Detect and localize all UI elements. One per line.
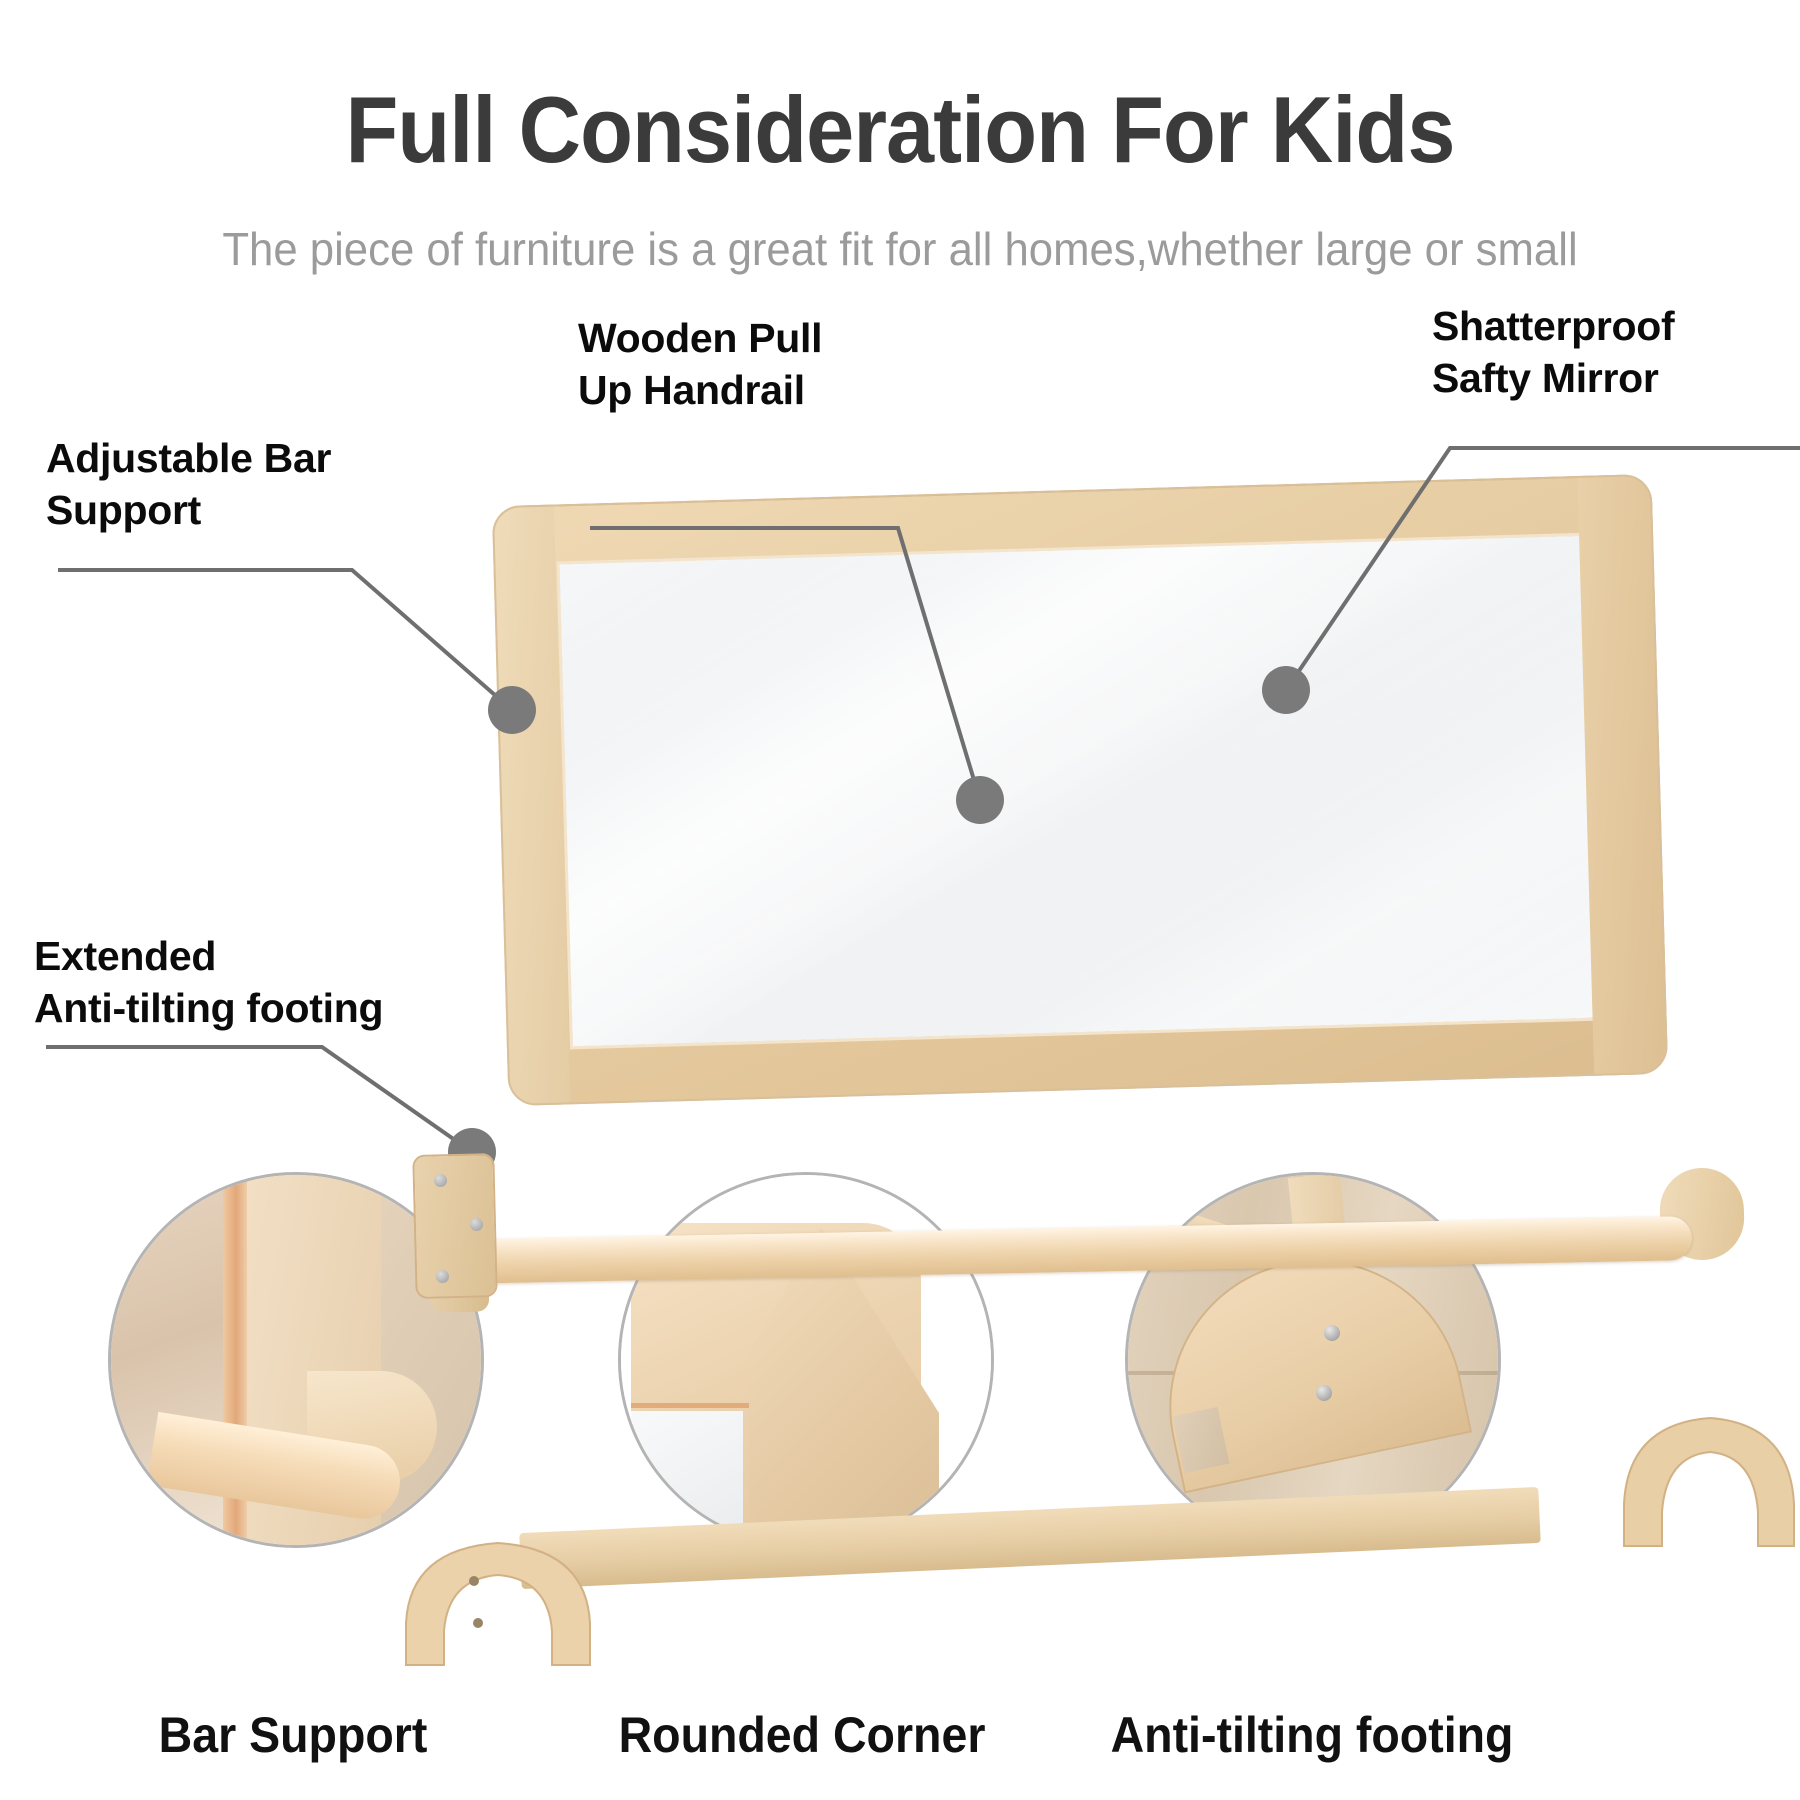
callout-adjustable-bar-support: Adjustable Bar Support [46,432,331,537]
adjustable-bar-bracket [414,1155,495,1297]
bracket-screw-top [434,1174,447,1187]
caption-anti-tilting-footing: Anti-tilting footing [1098,1706,1526,1764]
mirror-frame [492,474,1668,1106]
callout-extended-anti-tilting-footing: Extended Anti-tilting footing [34,930,383,1035]
product-illustration [0,480,1800,1240]
right-anti-tilting-foot [1618,1408,1800,1548]
detail-photo-rounded-corner [618,1172,994,1548]
caption-bar-support: Bar Support [79,1706,507,1764]
d2-edge-line [631,1403,749,1408]
bracket-screw-mid [470,1218,483,1231]
page-subtitle: The piece of furniture is a great fit fo… [45,222,1755,276]
page-title: Full Consideration For Kids [72,76,1728,184]
callout-wooden-pull-up-handrail: Wooden Pull Up Handrail [578,312,822,417]
infographic-page: Full Consideration For Kids The piece of… [0,0,1800,1800]
d3-screw-top [1324,1325,1340,1341]
bracket-screw-bottom [436,1270,449,1283]
caption-rounded-corner: Rounded Corner [588,1706,1016,1764]
d3-screw-bottom [1316,1385,1332,1401]
frame-edge [492,474,1668,1106]
left-anti-tilting-foot [400,1535,600,1667]
callout-shatterproof-safty-mirror: Shatterproof Safty Mirror [1432,300,1674,405]
